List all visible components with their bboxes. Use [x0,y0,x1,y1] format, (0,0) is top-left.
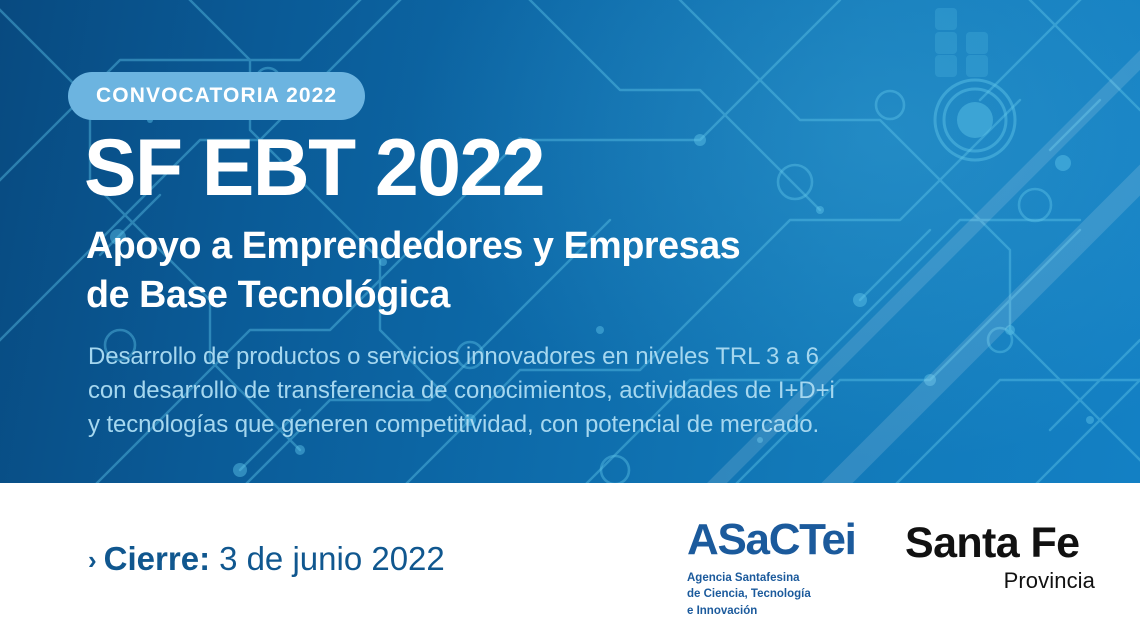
santa-fe-subtitle: Provincia [905,570,1095,592]
deadline-line: › Cierre: 3 de junio 2022 [88,540,445,578]
subtitle-line-2: de Base Tecnológica [86,271,740,320]
convocatoria-badge: CONVOCATORIA 2022 [68,72,365,120]
santa-fe-provincia-logo: Santa Fe Provincia [905,522,1095,592]
asactei-wordmark: ASaCTei [687,518,877,562]
concentric-target-icon [935,80,1015,160]
asactei-tagline: Agencia Santafesina de Ciencia, Tecnolog… [687,570,877,619]
page-description: Desarrollo de productos o servicios inno… [88,340,835,442]
subtitle-line-1: Apoyo a Emprendedores y Empresas [86,222,740,271]
promotional-banner: CONVOCATORIA 2022 SF EBT 2022 Apoyo a Em… [0,0,1140,640]
page-title: SF EBT 2022 [84,128,544,209]
chevron-right-icon: › [88,545,97,576]
hero-section: CONVOCATORIA 2022 SF EBT 2022 Apoyo a Em… [0,0,1140,483]
description-line-3: y tecnologías que generen competitividad… [88,408,835,442]
description-line-1: Desarrollo de productos o servicios inno… [88,340,835,374]
deadline-value: 3 de junio 2022 [219,540,445,578]
page-subtitle: Apoyo a Emprendedores y Empresas de Base… [86,222,740,319]
asactei-logo: ASaCTei Agencia Santafesina de Ciencia, … [687,518,877,619]
description-line-2: con desarrollo de transferencia de conoc… [88,374,835,408]
badge-label: CONVOCATORIA 2022 [96,84,337,108]
deadline-label: Cierre: [104,540,210,578]
square-grid-decoration [935,8,988,77]
santa-fe-name: Santa Fe [905,522,1095,565]
